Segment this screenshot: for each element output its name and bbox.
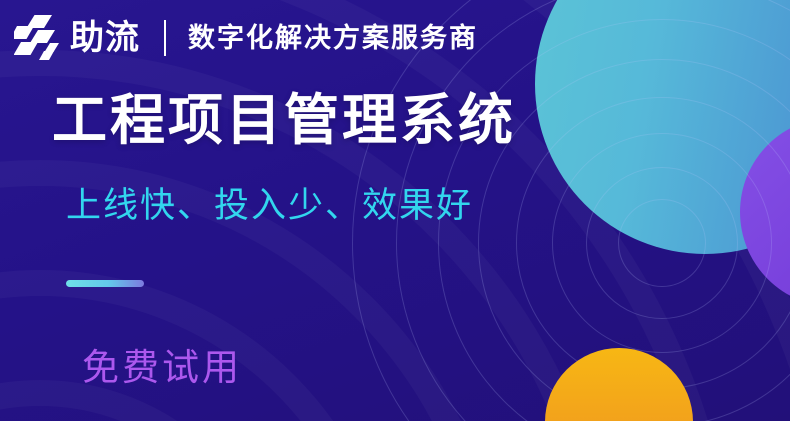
gradient-accent-bar [66, 280, 144, 287]
promo-banner: 助流 数字化解决方案服务商 工程项目管理系统 上线快、投入少、效果好 免费试用 [0, 0, 790, 421]
header-tagline: 数字化解决方案服务商 [188, 25, 478, 52]
page-title: 工程项目管理系统 [52, 92, 516, 150]
brand-header: 助流 数字化解决方案服务商 [14, 10, 478, 66]
brand-name: 助流 [70, 21, 140, 55]
free-trial-cta[interactable]: 免费试用 [82, 349, 242, 386]
flow-parallelogram-logo-icon [14, 13, 66, 63]
hero-subtitle: 上线快、投入少、效果好 [66, 188, 473, 223]
header-divider [164, 20, 166, 56]
